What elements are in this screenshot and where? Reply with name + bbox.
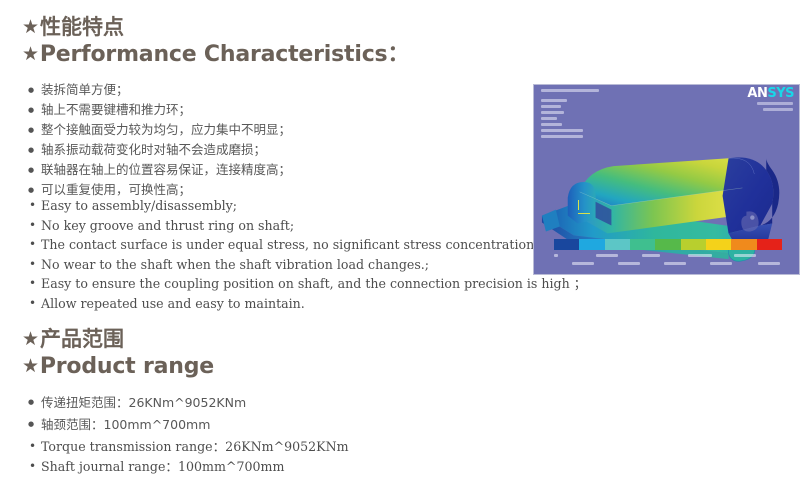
- fea-header-annotation: [541, 89, 661, 141]
- performance-bullets-chinese: 装拆简单方便； 轴上不需要键槽和推力环； 整个接触面受力较为均匀，应力集中不明显…: [28, 80, 291, 200]
- annotation-line: [541, 105, 561, 108]
- performance-heading-english-text: Performance Characteristics：: [40, 42, 409, 67]
- axis-triad-icon: [578, 200, 594, 214]
- legend-swatch: [731, 239, 756, 250]
- product-range-heading-english-text: Product range: [40, 354, 214, 379]
- legend-swatch: [579, 239, 604, 250]
- legend-tick: [618, 262, 640, 265]
- legend-tick: [664, 262, 686, 265]
- legend-swatch: [655, 239, 680, 250]
- legend-swatch: [757, 239, 782, 250]
- performance-heading-chinese-text: 性能特点: [40, 15, 124, 39]
- list-item: Torque transmission range：26KNm^9052KNm: [28, 437, 349, 457]
- annotation-line: [541, 117, 557, 120]
- axis-x: [578, 213, 590, 214]
- legend-tick: [572, 262, 594, 265]
- list-item: Shaft journal range：100mm^700mm: [28, 457, 349, 477]
- legend-swatch: [554, 239, 579, 250]
- legend-swatch: [681, 239, 706, 250]
- legend-swatch: [605, 239, 630, 250]
- fea-meta-annotation: [757, 102, 793, 114]
- list-item: No key groove and thrust ring on shaft;: [28, 216, 586, 236]
- legend-tick: [596, 254, 618, 257]
- legend-tick: [734, 254, 756, 257]
- annotation-line: [541, 123, 562, 126]
- annotation-line: [541, 111, 564, 114]
- product-range-bullets-english: Torque transmission range：26KNm^9052KNm …: [28, 437, 349, 476]
- performance-heading-chinese: ★性能特点: [22, 14, 409, 40]
- product-range-bullets-chinese: 传递扭矩范围：26KNm^9052KNm 轴颈范围：100mm^700mm: [28, 392, 246, 436]
- annotation-line: [757, 102, 793, 105]
- product-range-heading-chinese: ★产品范围: [22, 326, 214, 352]
- legend-swatch: [630, 239, 655, 250]
- list-item: Allow repeated use and easy to maintain.: [28, 294, 586, 314]
- legend-tick: [554, 254, 558, 257]
- list-item: 轴颈范围：100mm^700mm: [28, 414, 246, 436]
- annotation-line: [541, 135, 583, 138]
- product-range-heading-group: ★产品范围 ★Product range: [22, 326, 214, 381]
- performance-heading-group: ★性能特点 ★Performance Characteristics：: [22, 14, 409, 69]
- list-item: 轴系振动载荷变化时对轴不会造成磨损；: [28, 140, 291, 160]
- list-item: No wear to the shaft when the shaft vibr…: [28, 255, 586, 275]
- performance-bullets-english: Easy to assembly/disassembly; No key gro…: [28, 196, 586, 313]
- product-info-page: ★性能特点 ★Performance Characteristics： 装拆简单…: [0, 0, 811, 477]
- ansys-logo-prefix: AN: [747, 86, 767, 101]
- star-icon: ★: [22, 40, 39, 68]
- product-range-heading-chinese-text: 产品范围: [40, 327, 124, 351]
- star-icon: ★: [22, 352, 39, 380]
- list-item: Easy to assembly/disassembly;: [28, 196, 586, 216]
- ansys-fea-figure: ANSYS: [533, 84, 800, 275]
- legend-tick: [710, 262, 732, 265]
- legend-swatch: [706, 239, 731, 250]
- fea-legend-tick-labels: [542, 252, 794, 270]
- product-range-heading-english: ★Product range: [22, 352, 214, 381]
- legend-tick: [642, 254, 660, 257]
- ansys-logo: ANSYS: [747, 87, 794, 101]
- list-item: 装拆简单方便；: [28, 80, 291, 100]
- annotation-line: [541, 99, 567, 102]
- list-item: 传递扭矩范围：26KNm^9052KNm: [28, 392, 246, 414]
- list-item: Easy to ensure the coupling position on …: [28, 274, 586, 294]
- list-item: The contact surface is under equal stres…: [28, 235, 586, 255]
- legend-tick: [688, 254, 712, 257]
- annotation-line: [541, 89, 599, 92]
- annotation-line: [541, 129, 583, 132]
- list-item: 联轴器在轴上的位置容易保证，连接精度高；: [28, 160, 291, 180]
- star-icon: ★: [22, 326, 39, 352]
- fea-color-legend: [554, 239, 782, 250]
- performance-heading-english: ★Performance Characteristics：: [22, 40, 409, 69]
- list-item: 整个接触面受力较为均匀，应力集中不明显；: [28, 120, 291, 140]
- legend-tick: [758, 262, 780, 265]
- ansys-logo-suffix: SYS: [767, 86, 794, 101]
- axis-y: [578, 200, 579, 210]
- star-icon: ★: [22, 14, 39, 40]
- annotation-line: [763, 108, 793, 111]
- list-item: 轴上不需要键槽和推力环；: [28, 100, 291, 120]
